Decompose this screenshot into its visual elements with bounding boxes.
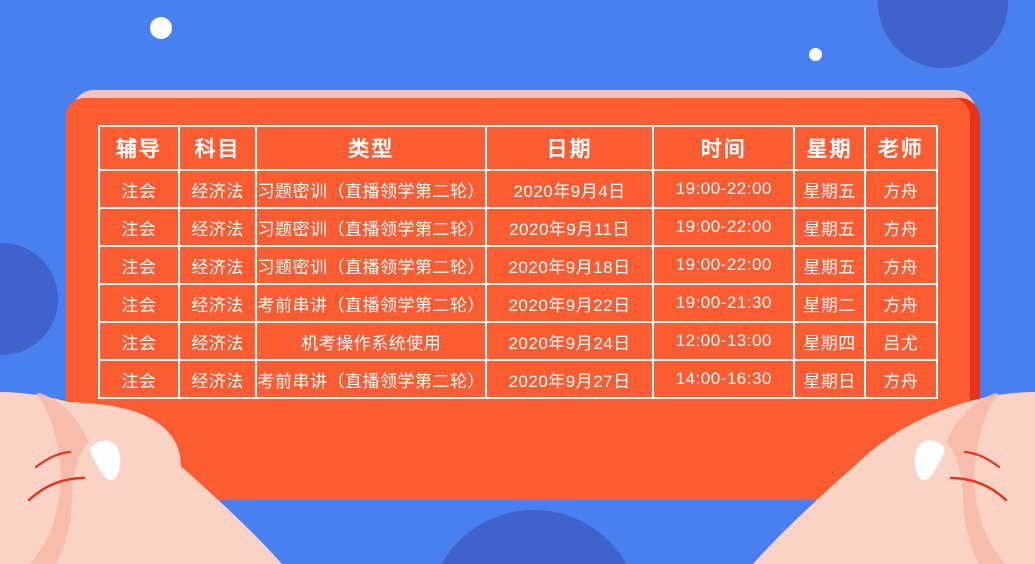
- cell-time: 19:00-22:00: [653, 170, 794, 208]
- cell-subject: 经济法: [179, 246, 257, 284]
- cell-subject: 经济法: [179, 360, 257, 398]
- dot-top-left-decoration: [150, 17, 172, 39]
- dot-top-right-decoration: [809, 48, 822, 61]
- column-header-weekday: 星期: [794, 126, 864, 170]
- cell-date: 2020年9月11日: [486, 208, 653, 246]
- cell-tutor: 注会: [99, 322, 179, 360]
- column-header-type: 类型: [256, 126, 486, 170]
- cell-tutor: 注会: [99, 208, 179, 246]
- table-row: 注会 经济法 习题密训（直播领学第二轮） 2020年9月18日 19:00-22…: [99, 246, 937, 284]
- cell-tutor: 注会: [99, 284, 179, 322]
- cell-weekday: 星期五: [794, 170, 864, 208]
- table-row: 注会 经济法 习题密训（直播领学第二轮） 2020年9月11日 19:00-22…: [99, 208, 937, 246]
- cell-teacher: 方舟: [865, 246, 937, 284]
- table-row: 注会 经济法 机考操作系统使用 2020年9月24日 12:00-13:00 星…: [99, 322, 937, 360]
- cell-type: 习题密训（直播领学第二轮）: [256, 208, 486, 246]
- cell-time: 19:00-22:00: [653, 246, 794, 284]
- cell-date: 2020年9月4日: [486, 170, 653, 208]
- table-row: 注会 经济法 考前串讲（直播领学第二轮） 2020年9月27日 14:00-16…: [99, 360, 937, 398]
- cell-weekday: 星期日: [794, 360, 864, 398]
- cell-weekday: 星期五: [794, 246, 864, 284]
- cell-teacher: 方舟: [865, 170, 937, 208]
- circle-left-decoration: [0, 243, 58, 355]
- cell-date: 2020年9月24日: [486, 322, 653, 360]
- circle-bottom-center-decoration: [428, 510, 640, 564]
- circle-peach-right-decoration: [975, 465, 1035, 564]
- cell-time: 12:00-13:00: [653, 322, 794, 360]
- cell-date: 2020年9月22日: [486, 284, 653, 322]
- cell-weekday: 星期四: [794, 322, 864, 360]
- cell-tutor: 注会: [99, 360, 179, 398]
- cell-time: 19:00-21:30: [653, 284, 794, 322]
- cell-subject: 经济法: [179, 284, 257, 322]
- cell-time: 14:00-16:30: [653, 360, 794, 398]
- cell-date: 2020年9月27日: [486, 360, 653, 398]
- cell-subject: 经济法: [179, 170, 257, 208]
- column-header-date: 日期: [486, 126, 653, 170]
- circle-top-right-decoration: [878, 0, 1008, 68]
- cell-tutor: 注会: [99, 246, 179, 284]
- column-header-teacher: 老师: [865, 126, 937, 170]
- cell-teacher: 方舟: [865, 284, 937, 322]
- cell-type: 机考操作系统使用: [256, 322, 486, 360]
- cell-date: 2020年9月18日: [486, 246, 653, 284]
- cell-subject: 经济法: [179, 322, 257, 360]
- cell-teacher: 方舟: [865, 208, 937, 246]
- table-row: 注会 经济法 习题密训（直播领学第二轮） 2020年9月4日 19:00-22:…: [99, 170, 937, 208]
- cell-tutor: 注会: [99, 170, 179, 208]
- column-header-time: 时间: [653, 126, 794, 170]
- card-surface: 辅导 科目 类型 日期 时间 星期 老师 注会 经济法 习题密训（直播领学第二轮…: [66, 98, 970, 500]
- schedule-card: 辅导 科目 类型 日期 时间 星期 老师 注会 经济法 习题密训（直播领学第二轮…: [66, 90, 976, 500]
- cell-teacher: 吕尤: [865, 322, 937, 360]
- course-schedule-table: 辅导 科目 类型 日期 时间 星期 老师 注会 经济法 习题密训（直播领学第二轮…: [98, 125, 938, 399]
- cell-type: 习题密训（直播领学第二轮）: [256, 170, 486, 208]
- cell-weekday: 星期二: [794, 284, 864, 322]
- cell-weekday: 星期五: [794, 208, 864, 246]
- cell-subject: 经济法: [179, 208, 257, 246]
- cell-type: 考前串讲（直播领学第二轮）: [256, 284, 486, 322]
- cell-time: 19:00-22:00: [653, 208, 794, 246]
- cell-type: 习题密训（直播领学第二轮）: [256, 246, 486, 284]
- column-header-subject: 科目: [179, 126, 257, 170]
- cell-type: 考前串讲（直播领学第二轮）: [256, 360, 486, 398]
- table-header-row: 辅导 科目 类型 日期 时间 星期 老师: [99, 126, 937, 170]
- cell-teacher: 方舟: [865, 360, 937, 398]
- column-header-tutor: 辅导: [99, 126, 179, 170]
- table-row: 注会 经济法 考前串讲（直播领学第二轮） 2020年9月22日 19:00-21…: [99, 284, 937, 322]
